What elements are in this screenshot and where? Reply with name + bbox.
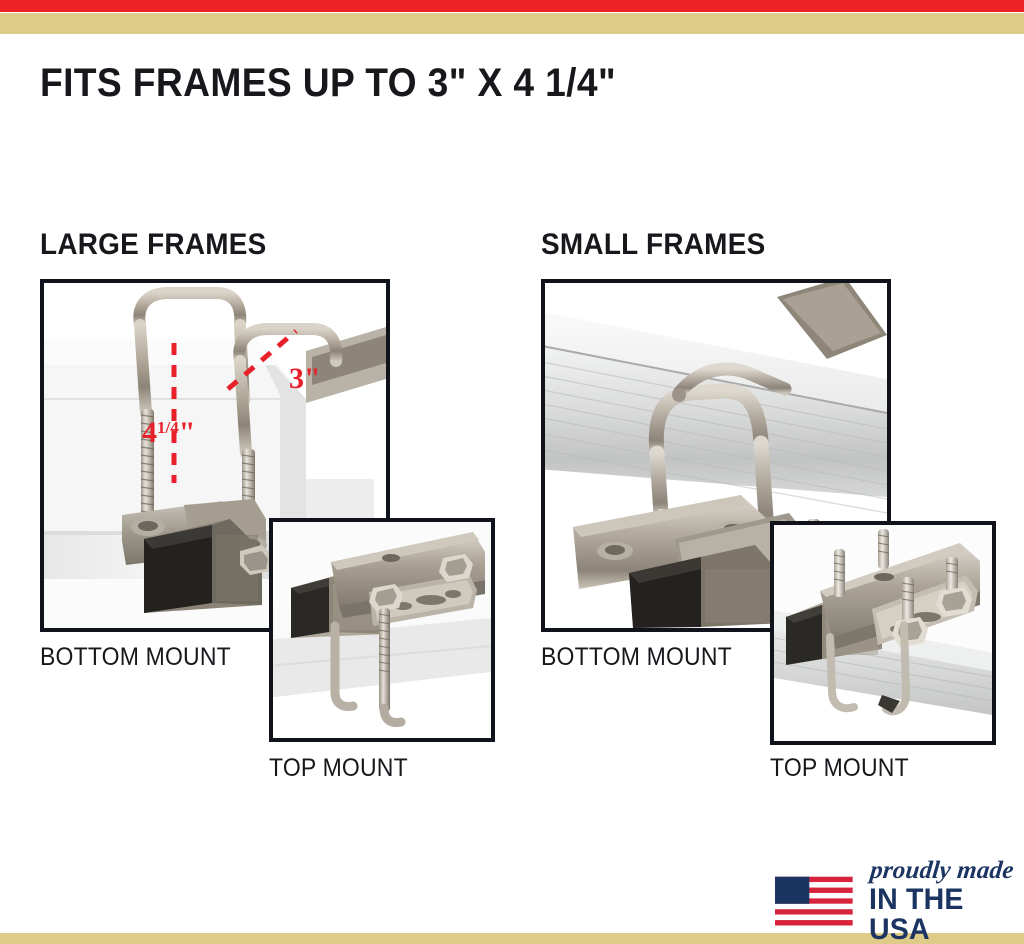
caption-large-bottom-mount: BOTTOM MOUNT <box>40 643 231 671</box>
usa-badge-bold-line: IN THE USA <box>869 885 1017 944</box>
usa-badge-text: proudly made IN THE USA <box>869 858 1024 944</box>
photo-large-top-mount-image <box>273 522 491 738</box>
caption-small-bottom-mount: BOTTOM MOUNT <box>541 643 732 671</box>
section-heading-small: SMALL FRAMES <box>541 228 765 262</box>
proudly-made-in-usa-badge: proudly made IN THE USA <box>775 858 1024 944</box>
section-heading-large: LARGE FRAMES <box>40 228 267 262</box>
infographic-page: FITS FRAMES UP TO 3" X 4 1/4" LARGE FRAM… <box>0 0 1024 944</box>
usa-flag-icon <box>775 874 853 930</box>
photo-small-top-mount <box>770 521 996 745</box>
top-tan-stripe <box>0 13 1024 34</box>
caption-large-top-mount: TOP MOUNT <box>269 754 408 782</box>
top-red-stripe <box>0 0 1024 12</box>
photo-large-top-mount <box>269 518 495 742</box>
usa-badge-script-line: proudly made <box>869 858 1024 883</box>
dimension-label-height: 41/4" <box>142 416 195 450</box>
dimension-label-width: 3" <box>289 362 321 396</box>
photo-small-top-mount-image <box>774 525 992 741</box>
page-title: FITS FRAMES UP TO 3" X 4 1/4" <box>40 60 616 106</box>
caption-small-top-mount: TOP MOUNT <box>770 754 909 782</box>
